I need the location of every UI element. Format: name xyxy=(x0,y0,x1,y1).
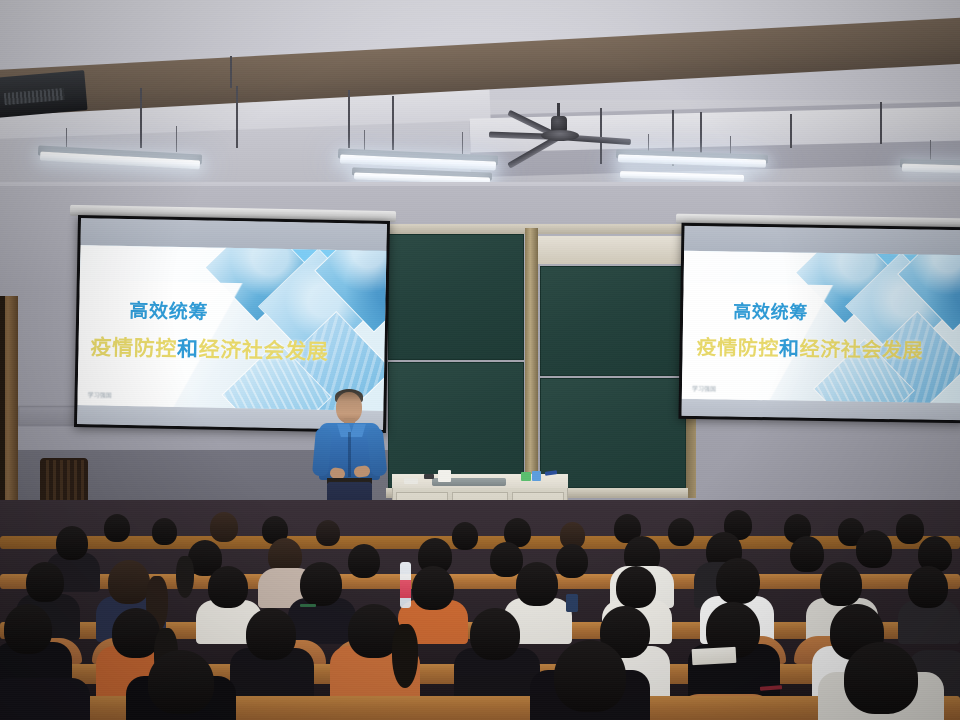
student-head xyxy=(108,560,150,604)
ceiling-fan-hub xyxy=(541,130,579,141)
student-head xyxy=(56,526,88,560)
student-head xyxy=(820,562,862,606)
ceiling-wire xyxy=(790,114,792,148)
student-ponytail xyxy=(176,556,194,598)
slide-title-part-c: 经济社会发展 xyxy=(198,338,328,363)
chalkboard-slide-rail[interactable] xyxy=(525,228,538,490)
student-head xyxy=(452,522,478,550)
presenter-shirt-placket xyxy=(348,432,351,477)
slide-title-part-c: 经济社会发展 xyxy=(799,338,923,362)
student-head xyxy=(516,562,558,606)
slide-body: 高效统筹 疫情防控和经济社会发展 学习强国 xyxy=(682,250,960,403)
chalkboard-upper-strip xyxy=(538,236,688,264)
ceiling-projector xyxy=(0,70,88,118)
light-hanger xyxy=(462,132,463,156)
eraser[interactable] xyxy=(424,474,434,479)
student-head xyxy=(790,536,824,572)
chalkboard-panel xyxy=(540,266,686,376)
tissue-box[interactable] xyxy=(438,470,451,482)
student-head xyxy=(208,566,248,608)
slide-title-line-1: 高效统筹 xyxy=(129,296,209,325)
desk-paper[interactable] xyxy=(404,478,418,484)
student-head xyxy=(896,514,924,544)
slide-title-part-b: 和 xyxy=(177,338,199,361)
chalkboard-panel xyxy=(388,362,524,488)
right-screen-surface: 高效统筹 疫情防控和经济社会发展 学习强国 xyxy=(682,226,960,420)
student-head xyxy=(4,604,52,654)
student-head xyxy=(556,544,588,578)
slide-title-part-a: 疫情防控 xyxy=(696,337,779,360)
slide-title-line-1: 高效统筹 xyxy=(733,297,808,324)
student-head xyxy=(246,608,296,660)
chalkboard-panel xyxy=(540,378,686,488)
student-head-foreground xyxy=(844,642,918,714)
green-box[interactable] xyxy=(521,472,531,481)
student-head xyxy=(210,512,238,542)
projector-vent xyxy=(4,88,65,105)
ceiling-wire xyxy=(392,96,394,150)
ceiling-wire xyxy=(880,102,882,144)
slide-title-part-b: 和 xyxy=(779,338,800,360)
ceiling-wire xyxy=(230,56,232,88)
student-head-foreground xyxy=(554,640,626,712)
student-ponytail xyxy=(392,624,418,688)
pen[interactable] xyxy=(300,604,316,607)
student-audience xyxy=(0,500,960,720)
student-head xyxy=(152,518,177,545)
chalkboard-panel xyxy=(388,234,524,360)
light-hanger xyxy=(176,126,177,152)
student-head xyxy=(112,608,160,658)
ceiling-wire xyxy=(236,86,238,148)
ceiling-wire xyxy=(348,90,350,148)
bottle-label xyxy=(400,580,411,598)
student-head xyxy=(412,566,454,610)
student-head xyxy=(104,514,130,542)
student-head xyxy=(300,562,342,606)
student-head xyxy=(470,608,520,660)
student-head xyxy=(856,530,892,568)
lecture-hall-photo: 高效统筹 疫情防控和经济社会发展 学习强国 xyxy=(0,0,960,720)
student-head xyxy=(26,562,64,602)
slide-logo: 学习强国 xyxy=(692,384,716,393)
student-head xyxy=(348,544,380,578)
slide-logo: 学习强国 xyxy=(88,391,112,400)
right-projection-screen[interactable]: 高效统筹 疫情防控和经济社会发展 学习强国 xyxy=(678,223,960,423)
student-head-foreground xyxy=(148,650,214,714)
blue-box[interactable] xyxy=(532,471,541,481)
student-head xyxy=(908,566,948,608)
ceiling-wire xyxy=(140,88,142,148)
slide-title-line-2: 疫情防控和经济社会发展 xyxy=(696,331,923,364)
student-head xyxy=(668,518,694,546)
student-head xyxy=(716,558,760,604)
phone[interactable] xyxy=(566,594,578,612)
slide-title-line-2: 疫情防控和经济社会发展 xyxy=(90,331,328,366)
student-torso xyxy=(0,678,90,720)
student-head xyxy=(616,566,656,608)
slide-title-part-a: 疫情防控 xyxy=(90,336,177,361)
open-notebook[interactable] xyxy=(692,647,737,665)
slide-body: 高效统筹 疫情防控和经济社会发展 学习强国 xyxy=(77,245,386,412)
student-head xyxy=(316,520,340,546)
